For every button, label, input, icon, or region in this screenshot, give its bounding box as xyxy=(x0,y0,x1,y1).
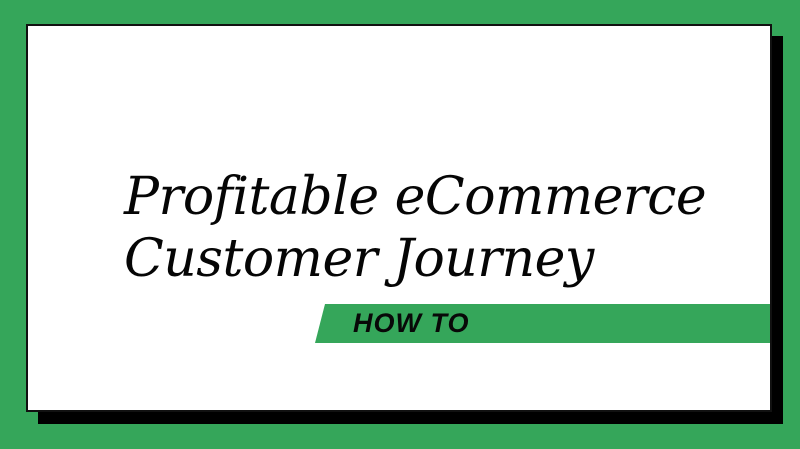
slide-card: Profitable eCommerce Customer Journey HO… xyxy=(26,24,772,412)
slide-title-line-2: Customer Journey xyxy=(124,228,724,290)
slide-title: Profitable eCommerce Customer Journey xyxy=(124,166,724,290)
how-to-banner: HOW TO xyxy=(315,304,772,343)
how-to-banner-label: HOW TO xyxy=(353,308,470,339)
slide-title-line-1: Profitable eCommerce xyxy=(124,166,724,228)
presentation-slide: Profitable eCommerce Customer Journey HO… xyxy=(0,0,800,449)
